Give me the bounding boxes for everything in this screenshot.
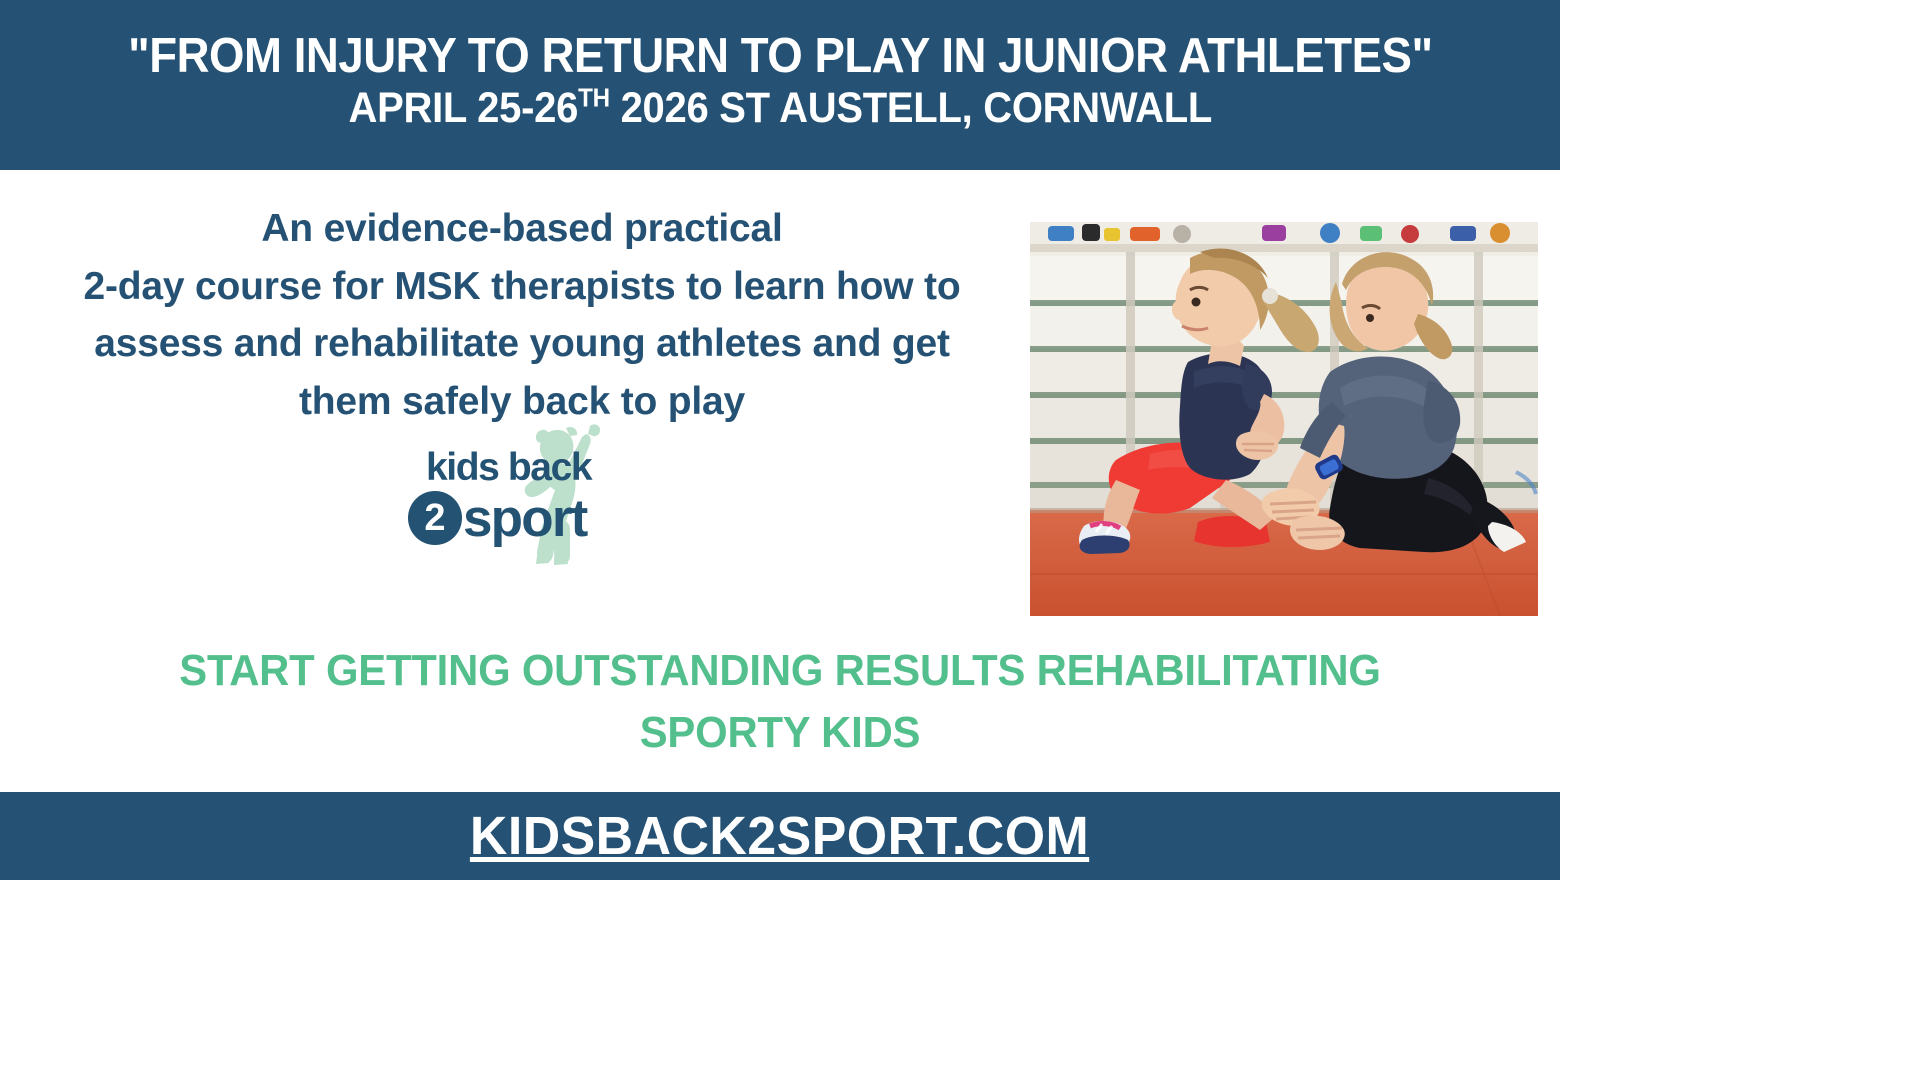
header-date-location: APRIL 25-26TH 2026 ST AUSTELL, CORNWALL — [348, 86, 1212, 131]
brand-logo: kids back 2 sport — [408, 422, 648, 567]
footer-bar: KIDSBACK2SPORT.COM — [0, 792, 1560, 880]
logo-two-badge: 2 — [408, 491, 462, 545]
logo-line-kids-back: kids back — [408, 448, 648, 487]
header-date-prefix: APRIL 25-26 — [348, 84, 578, 132]
description-line-3: assess and rehabilitate young athletes a… — [42, 315, 1002, 373]
header-date-suffix: 2026 ST AUSTELL, CORNWALL — [609, 84, 1211, 132]
header-bar: "FROM INJURY TO RETURN TO PLAY IN JUNIOR… — [0, 0, 1560, 170]
description-line-2: 2-day course for MSK therapists to learn… — [42, 258, 1002, 316]
header-title: "FROM INJURY TO RETURN TO PLAY IN JUNIOR… — [128, 32, 1433, 82]
website-url-link[interactable]: KIDSBACK2SPORT.COM — [470, 805, 1089, 867]
logo-word-sport: sport — [463, 492, 587, 545]
logo-wordmark: kids back 2 sport — [408, 448, 648, 545]
course-photo: Gym rehabilitation photo — [1030, 222, 1538, 616]
logo-line-2-sport: 2 sport — [408, 491, 648, 545]
description-line-1: An evidence-based practical — [42, 200, 1002, 258]
course-description: An evidence-based practical 2-day course… — [42, 200, 1002, 431]
main-content: An evidence-based practical 2-day course… — [0, 170, 1560, 792]
cta-text: START GETTING OUTSTANDING RESULTS REHABI… — [0, 640, 1560, 765]
cta-line-1: START GETTING OUTSTANDING RESULTS REHABI… — [39, 640, 1521, 702]
header-date-ordinal: TH — [578, 83, 610, 113]
cta-line-2: SPORTY KIDS — [39, 702, 1521, 764]
promo-banner: "FROM INJURY TO RETURN TO PLAY IN JUNIOR… — [0, 0, 1560, 880]
